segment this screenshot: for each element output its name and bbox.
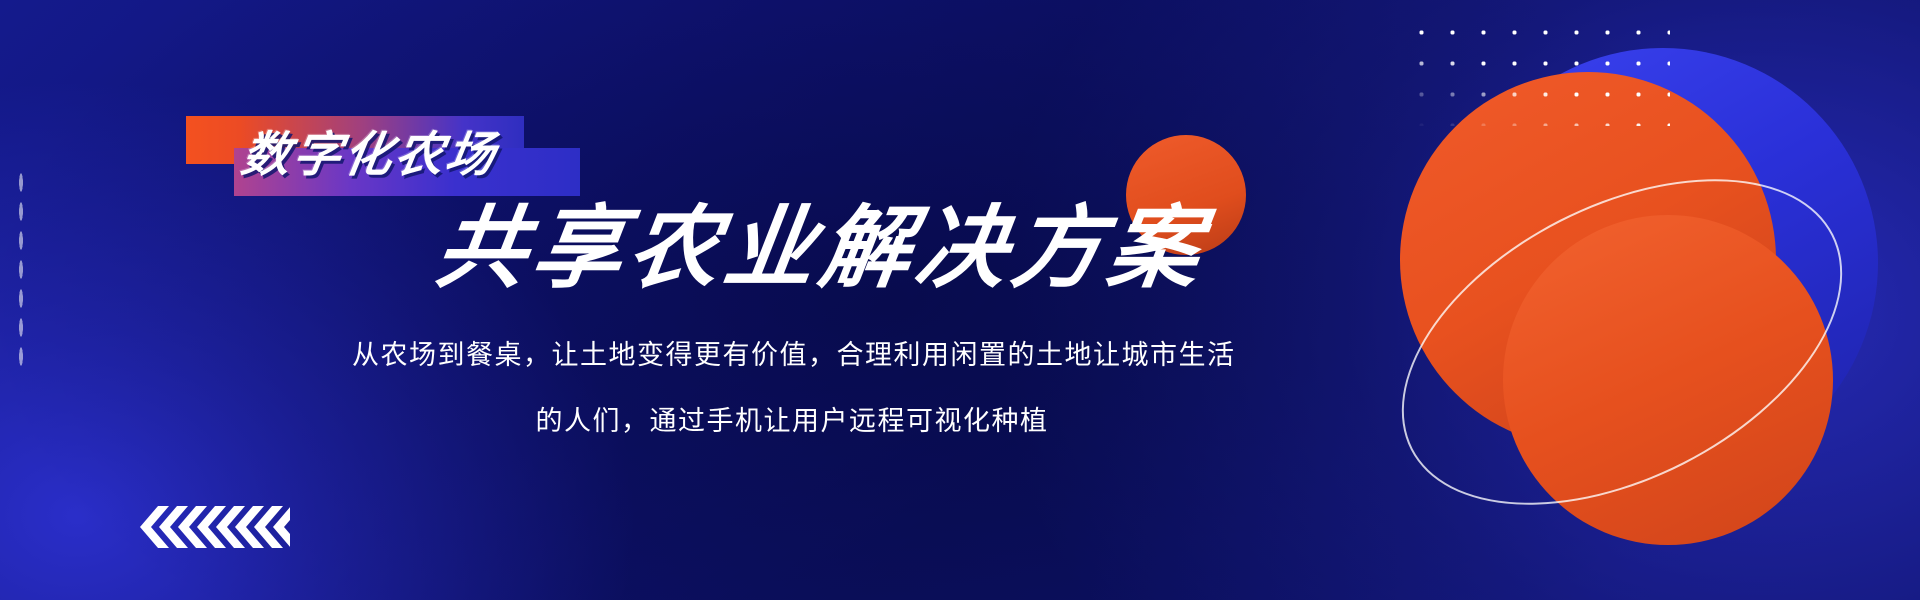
dot-grid-decoration [1404, 4, 1670, 126]
promo-banner: 数字化农场 共享农业解决方案 从农场到餐桌，让土地变得更有价值，合理利用闲置的土… [0, 0, 1920, 600]
chevron-left-icon [138, 506, 290, 548]
badge-label: 数字化农场 [238, 128, 587, 184]
dotted-line-decoration [18, 168, 24, 372]
subtitle-line-1: 从农场到餐桌，让土地变得更有价值，合理利用闲置的土地让城市生活 [352, 322, 1232, 388]
orange-circle-lower [1503, 215, 1833, 545]
subtitle: 从农场到餐桌，让土地变得更有价值，合理利用闲置的土地让城市生活 的人们，通过手机… [352, 322, 1232, 454]
badge: 数字化农场 [186, 116, 586, 196]
subtitle-line-2: 的人们，通过手机让用户远程可视化种植 [352, 388, 1232, 454]
chevron-group-icon [138, 506, 290, 548]
page-title: 共享农业解决方案 [430, 199, 1212, 299]
